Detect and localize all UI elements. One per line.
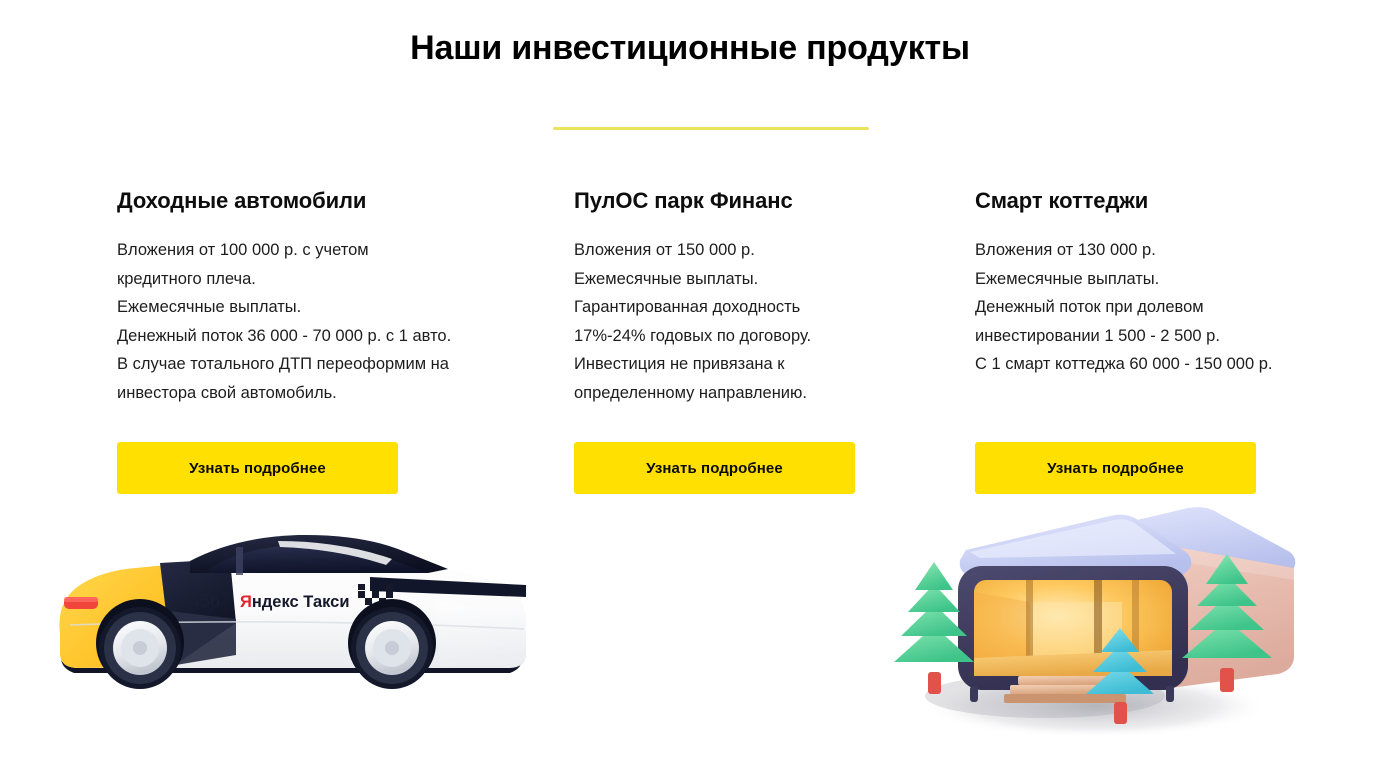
description-line: Вложения от 130 000 р. [975,236,1375,265]
learn-more-button-cars[interactable]: Узнать подробнее [117,442,398,494]
description-line: Вложения от 150 000 р. [574,236,974,265]
description-line: кредитного плеча. [117,265,517,294]
product-description: Вложения от 100 000 р. с учетом кредитно… [117,236,517,407]
pine-tree-green-left [894,562,974,694]
description-line: Денежный поток 36 000 - 70 000 р. с 1 ав… [117,322,517,351]
description-line: Ежемесячные выплаты. [117,293,517,322]
cottage-frame [958,566,1188,690]
page-title: Наши инвестиционные продукты [0,26,1380,70]
smart-cottage-illustration [870,480,1310,740]
description-line: Гарантированная доходность [574,293,974,322]
brand-text: ндекс Такси [252,593,350,611]
description-line: инвестора свой автомобиль. [117,379,517,408]
cottage-side-wall [1170,546,1294,688]
description-line: С 1 смарт коттеджа 60 000 - 150 000 р. [975,350,1375,379]
product-title: Смарт коттеджи [975,186,1375,216]
brand-accent-letter: Я [240,593,252,611]
cottage-steps [1004,676,1126,703]
title-divider [553,127,869,130]
description-line: 17%-24% годовых по договору. [574,322,974,351]
product-card-cars: Доходные автомобили Вложения от 100 000 … [117,186,517,407]
taxi-checker-icon [358,584,393,605]
description-line: Инвестиция не привязана к [574,350,974,379]
svg-text:Яндекс Такси: Яндекс Такси [240,593,349,611]
learn-more-button-pulos-park-finance[interactable]: Узнать подробнее [574,442,855,494]
product-card-smart-cottages: Смарт коттеджи Вложения от 130 000 р. Еж… [975,186,1375,379]
car-rear-wheel [99,607,181,689]
description-line: определенному направлению. [574,379,974,408]
product-card-pulos-park-finance: ПулОС парк Финанс Вложения от 150 000 р.… [574,186,974,407]
product-title: ПулОС парк Финанс [574,186,974,216]
pine-tree-green-right [1182,554,1272,692]
cottage-roof-front [960,515,1192,576]
description-line: Денежный поток при долевом [975,293,1375,322]
learn-more-button-smart-cottages[interactable]: Узнать подробнее [975,442,1256,494]
product-description: Вложения от 130 000 р. Ежемесячные выпла… [975,236,1375,379]
car-front-wheel [351,607,433,689]
pine-tree-cyan-front [1086,628,1154,724]
cottage-interior-glow [974,580,1172,676]
cottage-roof-back [1052,507,1295,576]
description-line: В случае тотального ДТП переоформим на [117,350,517,379]
description-line: Вложения от 100 000 р. с учетом [117,236,517,265]
product-description: Вложения от 150 000 р. Ежемесячные выпла… [574,236,974,407]
yandex-taxi-car-illustration: 456 Яндекс Такси [40,515,540,715]
description-line: инвестировании 1 500 - 2 500 р. [975,322,1375,351]
description-line: Ежемесячные выплаты. [975,265,1375,294]
investment-products-page: Наши инвестиционные продукты Доходные ав… [0,0,1380,771]
description-line: Ежемесячные выплаты. [574,265,974,294]
product-title: Доходные автомобили [117,186,517,216]
car-door-number: 456 [190,591,220,611]
